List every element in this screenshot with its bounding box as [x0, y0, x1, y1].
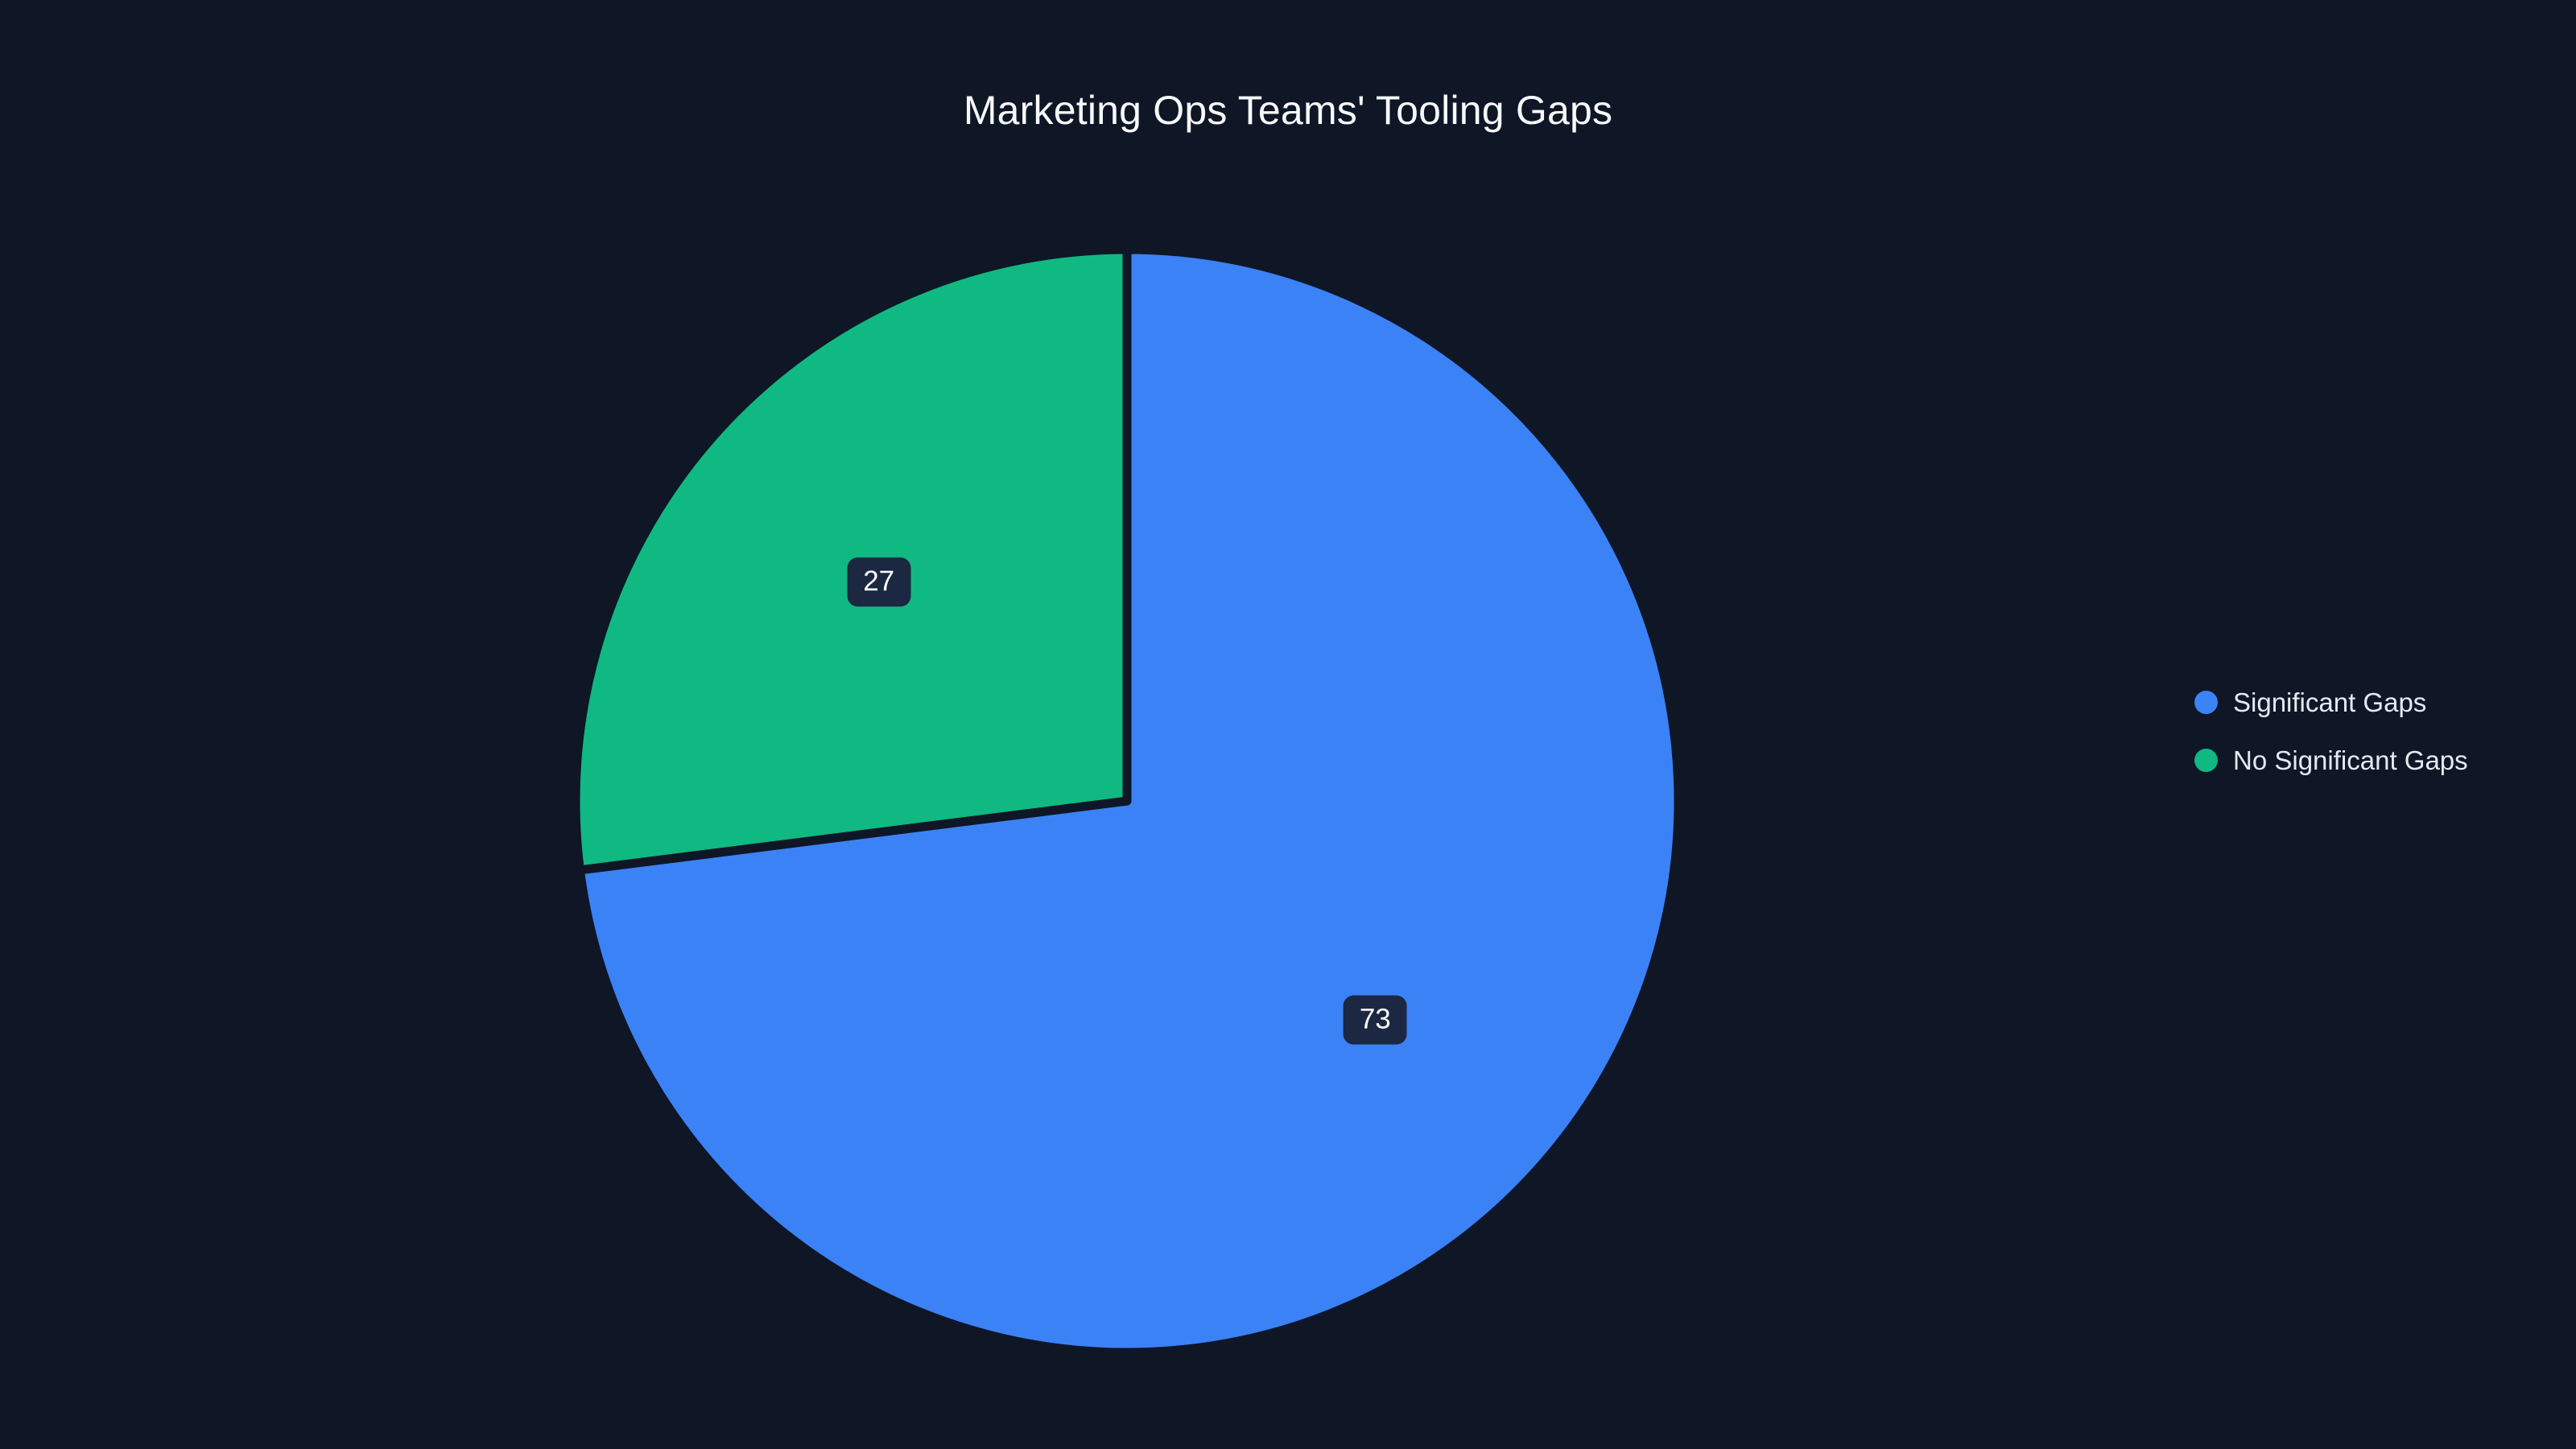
- legend-swatch-circle-icon: [2194, 749, 2218, 772]
- legend-swatch-circle-icon: [2194, 691, 2218, 714]
- legend-item-label: No Significant Gaps: [2233, 747, 2468, 774]
- legend-item-significant-gaps[interactable]: Significant Gaps: [2194, 673, 2468, 731]
- pie-chart-figure: Marketing Ops Teams' Tooling Gaps 73 27 …: [0, 0, 2576, 1449]
- data-label-no-significant-gaps: 27: [847, 558, 910, 607]
- pie-plot-area: [0, 0, 2576, 1449]
- legend-item-no-significant-gaps[interactable]: No Significant Gaps: [2194, 731, 2468, 789]
- data-label-significant-gaps: 73: [1344, 995, 1407, 1044]
- pie-slice-group: [576, 250, 1678, 1352]
- legend-item-label: Significant Gaps: [2233, 689, 2426, 716]
- chart-legend: Significant Gaps No Significant Gaps: [2194, 673, 2468, 789]
